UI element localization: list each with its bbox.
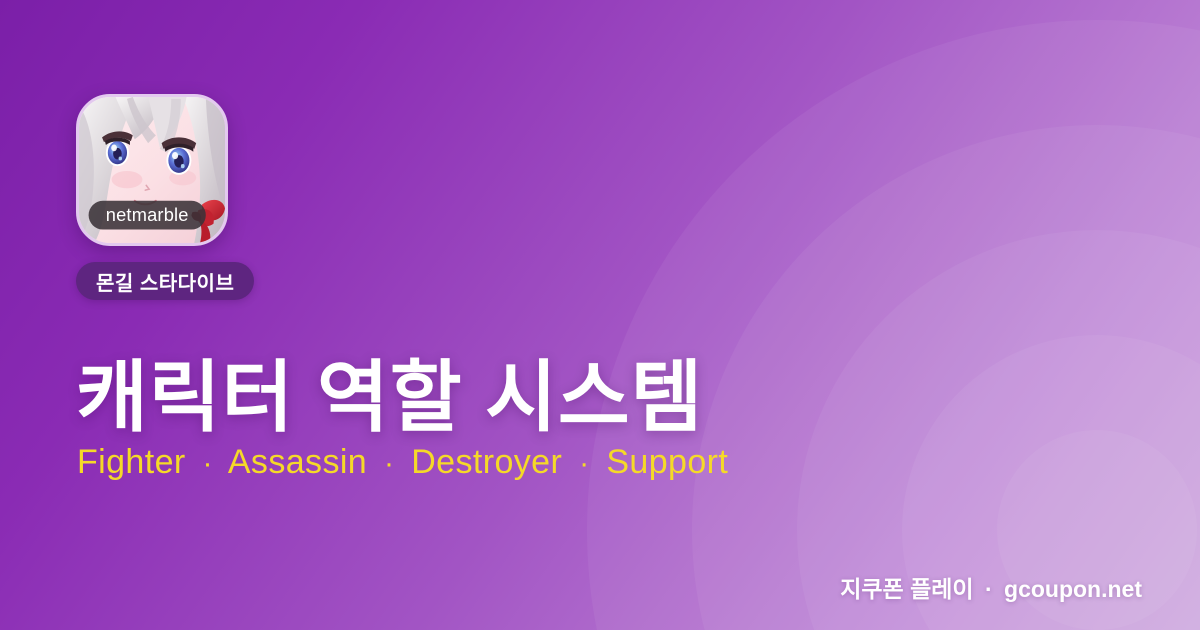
role-item-fighter: Fighter (77, 443, 186, 481)
app-icon[interactable]: netmarble (76, 94, 228, 246)
promo-banner: netmarble 몬길 스타다이브 캐릭터 역할 시스템 Fighter · … (0, 0, 1200, 630)
site-name-label: 지쿠폰 플레이 (840, 576, 973, 602)
role-item-assassin: Assassin (228, 443, 367, 481)
decorative-ring-2 (692, 125, 1200, 630)
footer-separator: · (980, 576, 998, 602)
game-name-label: 몬길 스타다이브 (96, 267, 234, 296)
app-icon-artwork: netmarble (79, 97, 225, 243)
role-separator-1: · (195, 447, 219, 480)
svg-text:netmarble: netmarble (106, 204, 189, 225)
role-separator-3: · (572, 447, 596, 480)
role-item-destroyer: Destroyer (411, 443, 562, 481)
decorative-ring-1 (587, 20, 1200, 630)
game-name-badge: 몬길 스타다이브 (76, 262, 254, 300)
page-title: 캐릭터 역할 시스템 (76, 357, 703, 439)
role-list: Fighter · Assassin · Destroyer · Support (77, 443, 728, 482)
site-domain-label: gcoupon.net (1004, 576, 1142, 602)
site-attribution: 지쿠폰 플레이 · gcoupon.net (840, 570, 1142, 604)
role-separator-2: · (377, 447, 401, 480)
role-item-support: Support (606, 443, 728, 481)
